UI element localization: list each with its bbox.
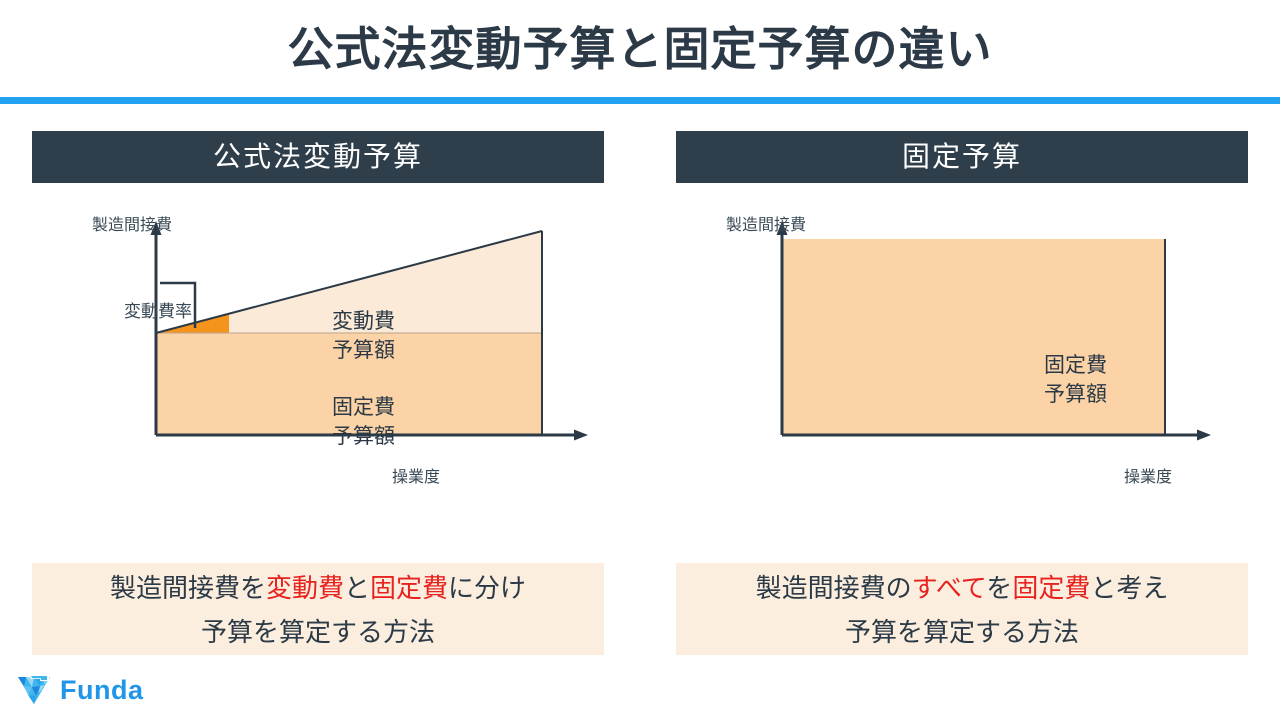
caption-right-text2: を: [986, 573, 1012, 603]
fixed-cost-label-line1-right: 固定費: [1044, 351, 1107, 380]
caption-right-line1: 製造間接費のすべてを固定費と考え: [676, 566, 1248, 610]
caption-right-text1: 製造間接費の: [756, 573, 912, 603]
fixed-cost-region-label-right: 固定費 予算額: [1044, 351, 1107, 409]
caption-left: 製造間接費を変動費と固定費に分け 予算を算定する方法: [32, 563, 604, 655]
brand-logo: Funda: [16, 673, 144, 707]
fixed-cost-label-line2-right: 予算額: [1044, 380, 1107, 409]
panel-header-left: 公式法変動予算: [32, 131, 604, 183]
slide-root: 公式法変動予算と固定予算の違い 公式法変動予算: [0, 0, 1280, 720]
gem-icon: [16, 673, 52, 707]
panel-fixed-budget: 固定予算 製造間接費 操業度 固定費 予算額: [676, 131, 1248, 531]
caption-left-highlight1: 変動費: [266, 573, 344, 603]
panel-header-right: 固定予算: [676, 131, 1248, 183]
y-axis-label-right: 製造間接費: [726, 211, 806, 235]
chart-svg-right: [676, 211, 1248, 501]
fixed-cost-label-line2-left: 予算額: [332, 422, 395, 451]
x-axis-label-left: 操業度: [392, 463, 440, 487]
variable-cost-region-label: 変動費 予算額: [332, 307, 395, 365]
caption-left-text2: と: [344, 573, 370, 603]
brand-name: Funda: [60, 675, 144, 706]
caption-left-line2: 予算を算定する方法: [32, 610, 604, 654]
fixed-cost-label-line1-left: 固定費: [332, 393, 395, 422]
fixed-cost-region-label-left: 固定費 予算額: [332, 393, 395, 451]
area-fixed-cost-right: [782, 239, 1165, 435]
chart-svg-left: [32, 211, 604, 501]
y-axis-label-left: 製造間接費: [92, 211, 172, 235]
x-axis-label-right: 操業度: [1124, 463, 1172, 487]
x-axis-arrowhead-right: [1197, 430, 1211, 441]
variable-cost-label-line1: 変動費: [332, 307, 395, 336]
caption-left-text3: に分け: [448, 573, 526, 603]
caption-right-highlight1: すべて: [912, 573, 987, 603]
caption-left-line1: 製造間接費を変動費と固定費に分け: [32, 566, 604, 610]
caption-right: 製造間接費のすべてを固定費と考え 予算を算定する方法: [676, 563, 1248, 655]
caption-right-text3: と考え: [1090, 573, 1168, 603]
page-title: 公式法変動予算と固定予算の違い: [0, 18, 1280, 80]
caption-left-highlight2: 固定費: [370, 573, 448, 603]
chart-formula-variable-budget: 製造間接費 操業度 変動費率 変動費 予算額 固定費 予算額: [32, 211, 604, 531]
title-divider: [0, 97, 1280, 104]
caption-right-highlight2: 固定費: [1012, 573, 1090, 603]
variable-cost-label-line2: 予算額: [332, 336, 395, 365]
caption-left-text1: 製造間接費を: [110, 573, 266, 603]
variable-rate-label: 変動費率: [124, 297, 192, 322]
panel-formula-variable-budget: 公式法変動予算: [32, 131, 604, 531]
caption-right-line2: 予算を算定する方法: [676, 610, 1248, 654]
chart-fixed-budget: 製造間接費 操業度 固定費 予算額: [676, 211, 1248, 531]
x-axis-arrowhead-left: [574, 430, 588, 441]
